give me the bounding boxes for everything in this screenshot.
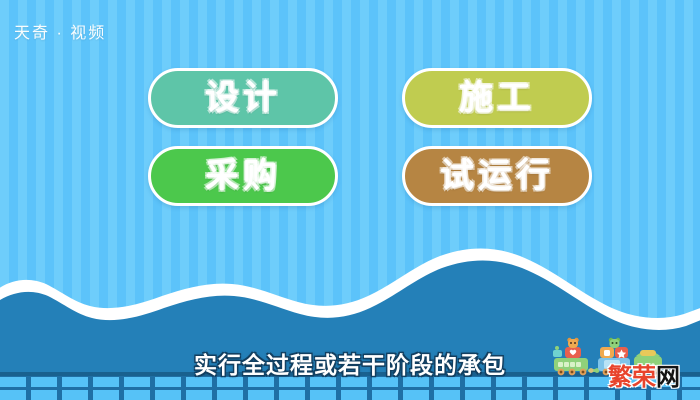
stage-buttons-group: 设计 施工 采购 试运行: [148, 68, 592, 206]
railing-cell-row: [0, 390, 700, 400]
site-watermark: 繁荣 网: [608, 366, 680, 390]
channel-logo: 天奇 · 视频: [14, 19, 106, 43]
stage-button-label: 试运行: [440, 159, 554, 193]
watermark-text-box: 网: [656, 366, 680, 390]
stage-button-trial-operation[interactable]: 试运行: [402, 146, 592, 206]
stage-button-design[interactable]: 设计: [148, 68, 338, 128]
stage-button-label: 设计: [205, 81, 281, 115]
stage-button-procurement[interactable]: 采购: [148, 146, 338, 206]
stage-button-label: 施工: [459, 81, 535, 115]
video-frame: 天奇 · 视频 设计 施工 采购 试运行 实行全过程或若干阶段的承包: [0, 0, 700, 400]
railing-cells: [0, 377, 700, 400]
stage-button-construction[interactable]: 施工: [402, 68, 592, 128]
stage-button-label: 采购: [205, 159, 281, 193]
watermark-text-red: 繁荣: [608, 366, 656, 390]
